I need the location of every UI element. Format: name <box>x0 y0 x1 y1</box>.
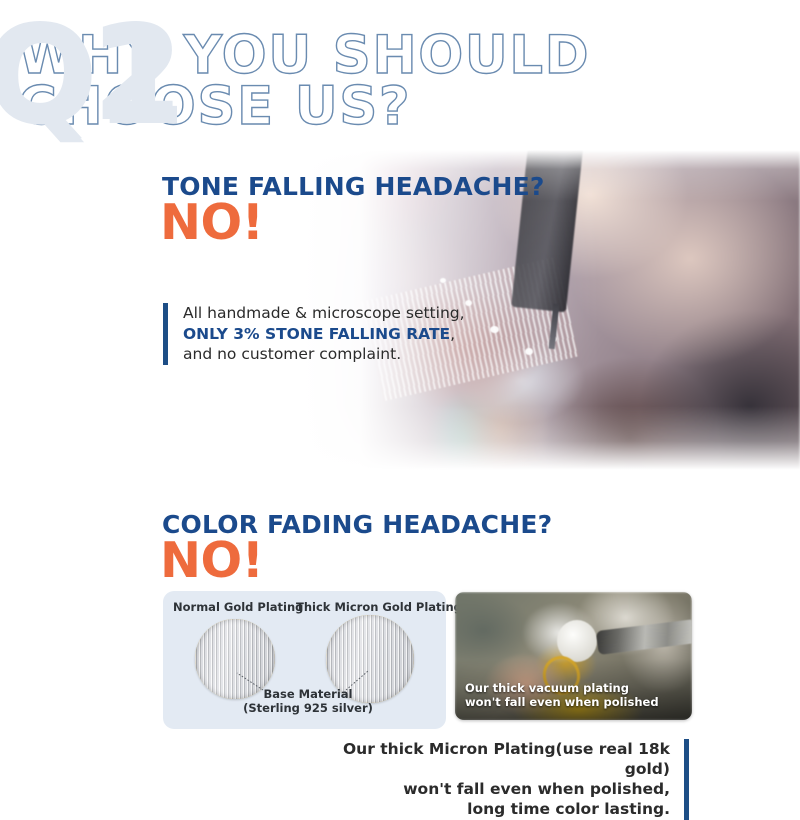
q2-note-line-1: Our thick Micron Plating(use real 18k go… <box>340 739 670 779</box>
q2-note-block: Our thick Micron Plating(use real 18k go… <box>340 739 689 820</box>
plating-label-thick: Thick Micron Gold Plating <box>296 600 438 614</box>
plating-comparison-diagram: Normal Gold Plating Thick Micron Gold Pl… <box>163 591 446 729</box>
base-material-label: Base Material (Sterling 925 silver) <box>223 687 393 716</box>
photo-caption-line-2: won't fall even when polished <box>465 695 659 709</box>
q1-answer: NO! <box>160 198 264 247</box>
q1-quote-line-2-bold: ONLY 3% STONE FALLING RATE <box>183 325 450 343</box>
q1-quote-line-2: ONLY 3% STONE FALLING RATE, <box>183 324 465 345</box>
photo-polishing-ring: Our thick vacuum plating won't fall even… <box>455 592 692 720</box>
photo-caption-line-1: Our thick vacuum plating <box>465 681 659 695</box>
q2-note-line-2: won't fall even when polished, <box>340 779 670 799</box>
plating-label-normal: Normal Gold Plating <box>173 600 298 614</box>
q2-answer: NO! <box>160 536 264 585</box>
q1-quote-block: All handmade & microscope setting, ONLY … <box>163 303 465 365</box>
q2-note-line-3: long time color lasting. <box>340 799 670 819</box>
watermark-number-q2: Q2 <box>0 8 180 140</box>
photo-caption: Our thick vacuum plating won't fall even… <box>465 681 659 709</box>
q1-quote-line-3: and no customer complaint. <box>183 344 465 365</box>
base-material-label-line-2: (Sterling 925 silver) <box>223 701 393 715</box>
q1-quote-line-2-tail: , <box>450 325 455 343</box>
base-material-label-line-1: Base Material <box>223 687 393 701</box>
q1-quote-line-1: All handmade & microscope setting, <box>183 303 465 324</box>
